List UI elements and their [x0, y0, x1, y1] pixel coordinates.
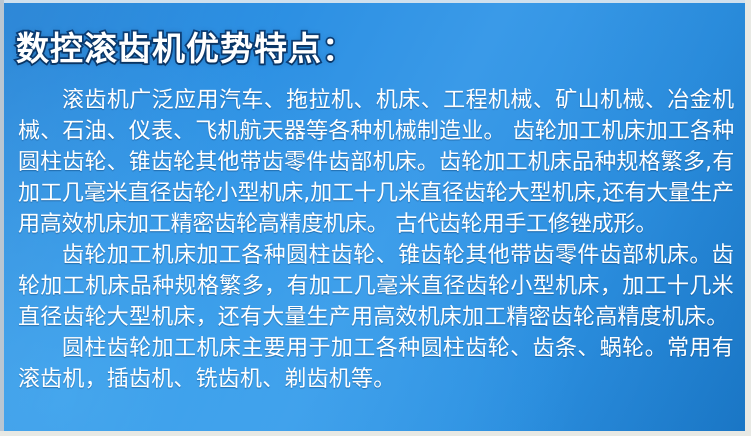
blue-panel-background: 数控滚齿机优势特点： 滚齿机广泛应用汽车、拖拉机、机床、工程机械、矿山机械、冶金… — [4, 3, 745, 431]
body-paragraph-1: 滚齿机广泛应用汽车、拖拉机、机床、工程机械、矿山机械、冶金机械、石油、仪表、飞机… — [18, 85, 734, 240]
frame-edge-right — [745, 0, 751, 436]
banner-heading: 数控滚齿机优势特点： — [16, 26, 356, 72]
body-paragraph-3: 圆柱齿轮加工机床主要用于加工各种圆柱齿轮、齿条、蜗轮。常用有滚齿机，插齿机、铣齿… — [18, 333, 734, 395]
frame-edge-bottom — [0, 431, 751, 436]
body-paragraph-2: 齿轮加工机床加工各种圆柱齿轮、锥齿轮其他带齿零件齿部机床。齿轮加工机床品种规格繁… — [18, 240, 734, 333]
banner-body-copy: 滚齿机广泛应用汽车、拖拉机、机床、工程机械、矿山机械、冶金机械、石油、仪表、飞机… — [18, 85, 734, 395]
promo-banner: 数控滚齿机优势特点： 滚齿机广泛应用汽车、拖拉机、机床、工程机械、矿山机械、冶金… — [0, 0, 751, 436]
